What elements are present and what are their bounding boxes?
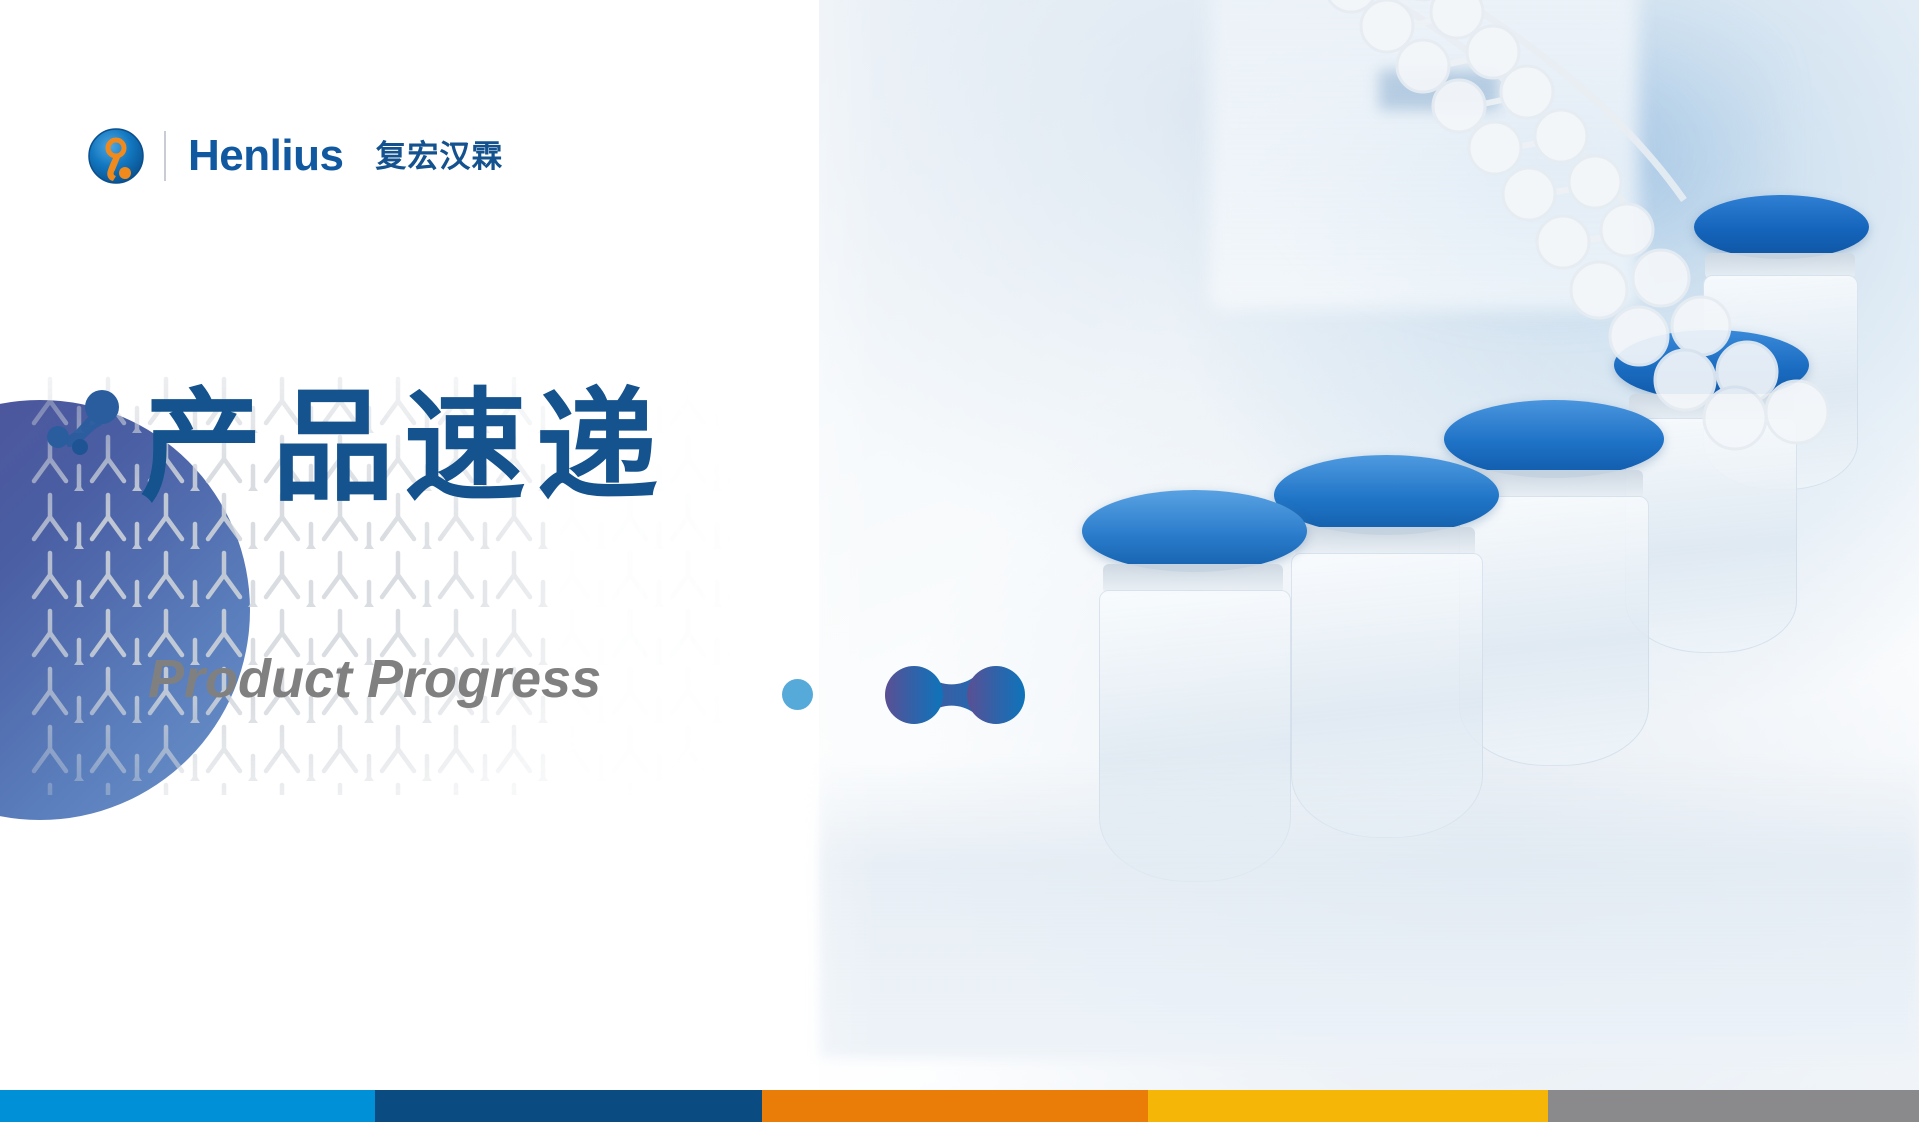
bottom-colorbar [0, 1090, 1919, 1122]
segment-gray [1548, 1090, 1919, 1122]
logo-chinese-name: 复宏汉霖 [375, 141, 503, 172]
photo-table-surface [819, 758, 1919, 1058]
dna-helix-watermark [1299, 0, 1919, 600]
brand-logo[interactable]: Henlius 复宏汉霖 [88, 128, 503, 184]
segment-orange [762, 1090, 1148, 1122]
logo-divider [164, 131, 166, 181]
page-subtitle: Product Progress [148, 648, 601, 710]
page-title: 产品速递 [140, 385, 668, 509]
logo-wordmark: Henlius [188, 134, 343, 178]
presentation-slide: Henlius 复宏汉霖 产品速递 Product Progress [0, 0, 1919, 1122]
molecule-dumbbell-icon [856, 650, 1046, 740]
vial-cap [1082, 490, 1307, 572]
molecule-node-icon [32, 385, 142, 465]
segment-light-blue [0, 1090, 375, 1122]
segment-dark-blue [375, 1090, 762, 1122]
henlius-molecule-logo-icon [88, 128, 144, 184]
small-blue-dot [782, 679, 813, 710]
photo-left-fade [549, 0, 879, 1090]
laboratory-vials-photo [819, 0, 1919, 1090]
segment-yellow [1148, 1090, 1548, 1122]
